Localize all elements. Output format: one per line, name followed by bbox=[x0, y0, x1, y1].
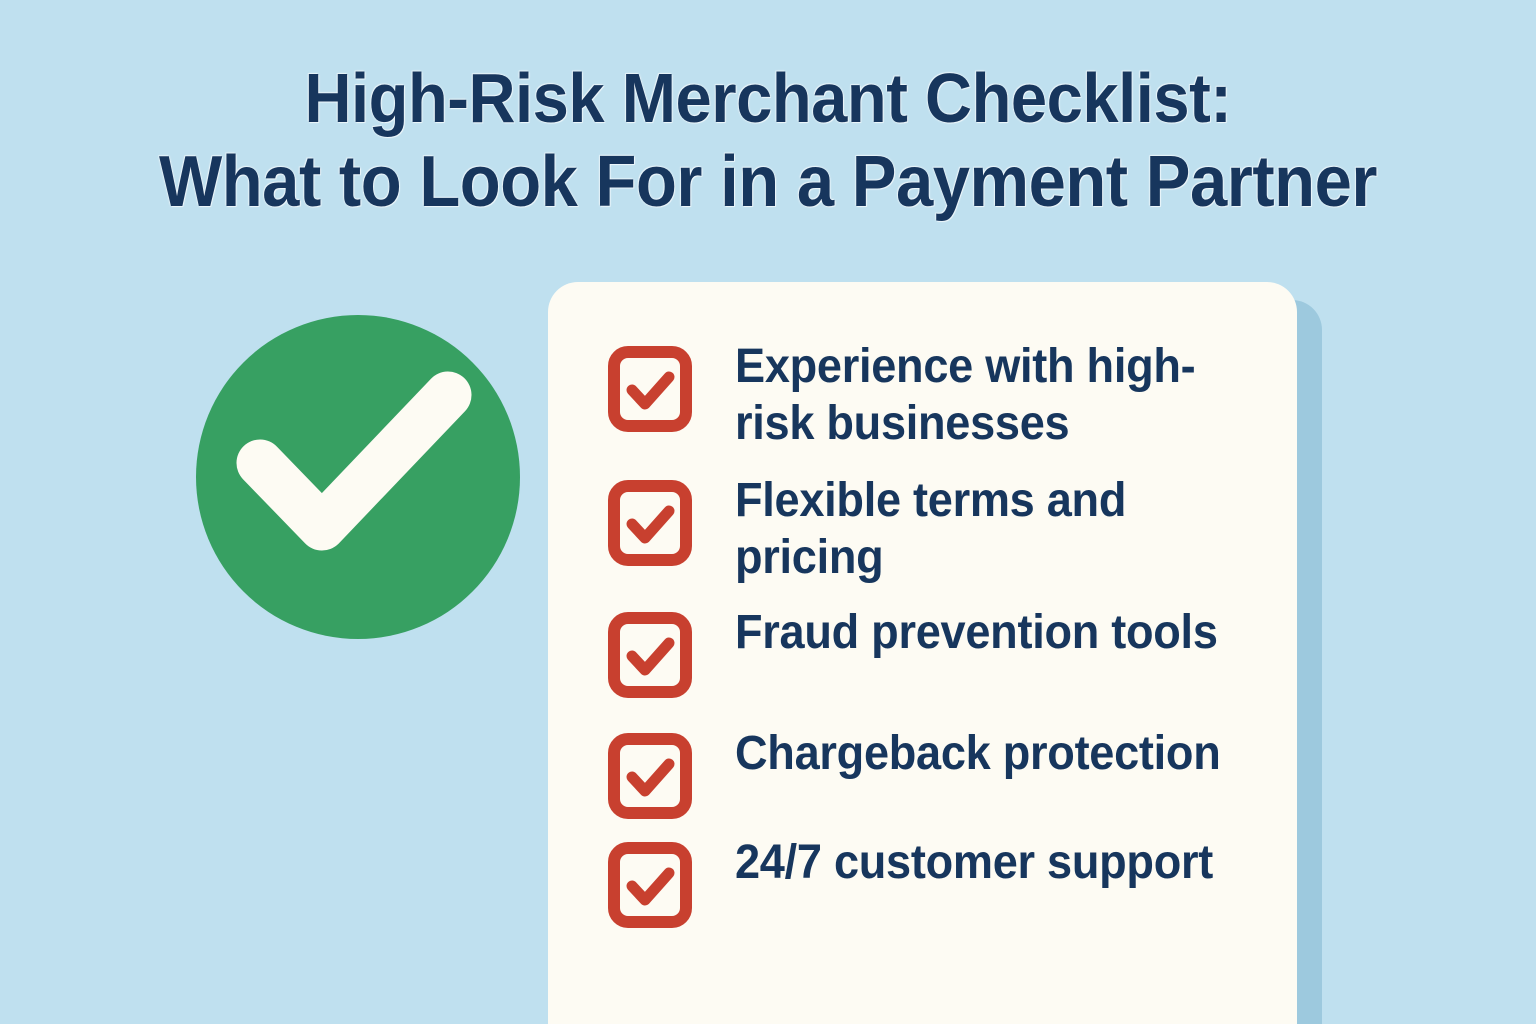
list-item-label: Flexible terms and pricing bbox=[735, 472, 1245, 586]
title-line-2: What to Look For in a Payment Partner bbox=[54, 140, 1482, 224]
list-item-label: Experience with high-risk businesses bbox=[735, 338, 1245, 452]
page-title: High-Risk Merchant Checklist: What to Lo… bbox=[0, 56, 1536, 224]
checkbox-checked-icon[interactable] bbox=[608, 612, 692, 698]
checkbox-checked-icon[interactable] bbox=[608, 842, 692, 928]
list-item[interactable]: 24/7 customer support bbox=[608, 840, 1278, 928]
list-item-label: Fraud prevention tools bbox=[735, 604, 1218, 661]
checkbox-checked-icon[interactable] bbox=[608, 733, 692, 819]
checklist-card: Experience with high-risk businesses Fle… bbox=[548, 282, 1297, 1024]
check-circle-icon bbox=[196, 315, 520, 639]
list-item[interactable]: Chargeback protection bbox=[608, 731, 1278, 819]
list-item[interactable]: Flexible terms and pricing bbox=[608, 478, 1278, 586]
infographic-canvas: High-Risk Merchant Checklist: What to Lo… bbox=[0, 0, 1536, 1024]
list-item-label: Chargeback protection bbox=[735, 725, 1220, 782]
list-item[interactable]: Fraud prevention tools bbox=[608, 610, 1278, 698]
checklist: Experience with high-risk businesses Fle… bbox=[608, 344, 1278, 928]
checkbox-checked-icon[interactable] bbox=[608, 346, 692, 432]
checkbox-checked-icon[interactable] bbox=[608, 480, 692, 566]
title-line-1: High-Risk Merchant Checklist: bbox=[54, 56, 1482, 140]
list-item-label: 24/7 customer support bbox=[735, 834, 1213, 891]
list-item[interactable]: Experience with high-risk businesses bbox=[608, 344, 1278, 452]
